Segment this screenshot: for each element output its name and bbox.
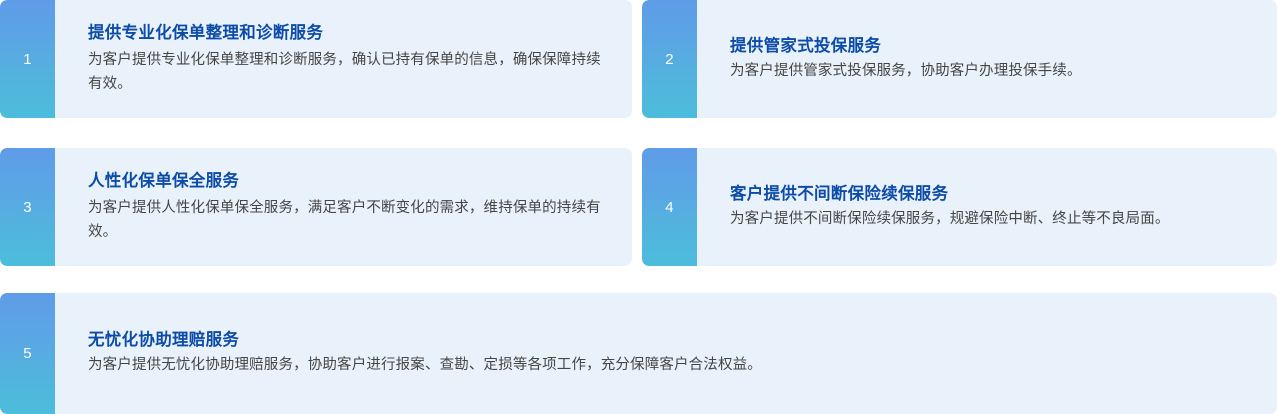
card-title-3: 人性化保单保全服务 bbox=[88, 170, 606, 192]
card-number-label-5: 5 bbox=[23, 346, 32, 361]
card-number-badge-2: 2 bbox=[642, 0, 697, 118]
service-card-4[interactable]: 4 客户提供不间断保险续保服务 为客户提供不间断保险续保服务，规避保险中断、终止… bbox=[642, 148, 1277, 266]
card-title-2: 提供管家式投保服务 bbox=[730, 35, 1251, 57]
card-number-label-4: 4 bbox=[665, 200, 674, 215]
card-description-4: 为客户提供不间断保险续保服务，规避保险中断、终止等不良局面。 bbox=[730, 208, 1251, 231]
card-number-label-2: 2 bbox=[665, 52, 674, 67]
card-number-badge-1: 1 bbox=[0, 0, 55, 118]
card-description-2: 为客户提供管家式投保服务，协助客户办理投保手续。 bbox=[730, 60, 1251, 83]
card-number-label-3: 3 bbox=[23, 200, 32, 215]
service-card-3[interactable]: 3 人性化保单保全服务 为客户提供人性化保单保全服务，满足客户不断变化的需求，维… bbox=[0, 148, 632, 266]
card-title-4: 客户提供不间断保险续保服务 bbox=[730, 183, 1251, 205]
card-number-label-1: 1 bbox=[23, 52, 32, 67]
card-body-1: 提供专业化保单整理和诊断服务 为客户提供专业化保单整理和诊断服务，确认已持有保单… bbox=[55, 0, 632, 118]
card-description-1: 为客户提供专业化保单整理和诊断服务，确认已持有保单的信息，确保保障持续有效。 bbox=[88, 49, 606, 96]
service-card-5[interactable]: 5 无忧化协助理赔服务 为客户提供无忧化协助理赔服务，协助客户进行报案、查勘、定… bbox=[0, 293, 1277, 414]
card-number-badge-3: 3 bbox=[0, 148, 55, 266]
card-description-3: 为客户提供人性化保单保全服务，满足客户不断变化的需求，维持保单的持续有效。 bbox=[88, 197, 606, 244]
card-description-5: 为客户提供无忧化协助理赔服务，协助客户进行报案、查勘、定损等各项工作，充分保障客… bbox=[88, 354, 1251, 377]
card-title-1: 提供专业化保单整理和诊断服务 bbox=[88, 22, 606, 44]
service-card-2[interactable]: 2 提供管家式投保服务 为客户提供管家式投保服务，协助客户办理投保手续。 bbox=[642, 0, 1277, 118]
card-body-4: 客户提供不间断保险续保服务 为客户提供不间断保险续保服务，规避保险中断、终止等不… bbox=[697, 148, 1277, 266]
card-body-5: 无忧化协助理赔服务 为客户提供无忧化协助理赔服务，协助客户进行报案、查勘、定损等… bbox=[55, 293, 1277, 414]
card-number-badge-5: 5 bbox=[0, 293, 55, 414]
service-cards-board: 1 提供专业化保单整理和诊断服务 为客户提供专业化保单整理和诊断服务，确认已持有… bbox=[0, 0, 1277, 414]
card-body-3: 人性化保单保全服务 为客户提供人性化保单保全服务，满足客户不断变化的需求，维持保… bbox=[55, 148, 632, 266]
service-card-1[interactable]: 1 提供专业化保单整理和诊断服务 为客户提供专业化保单整理和诊断服务，确认已持有… bbox=[0, 0, 632, 118]
card-body-2: 提供管家式投保服务 为客户提供管家式投保服务，协助客户办理投保手续。 bbox=[697, 0, 1277, 118]
card-number-badge-4: 4 bbox=[642, 148, 697, 266]
card-title-5: 无忧化协助理赔服务 bbox=[88, 329, 1251, 351]
